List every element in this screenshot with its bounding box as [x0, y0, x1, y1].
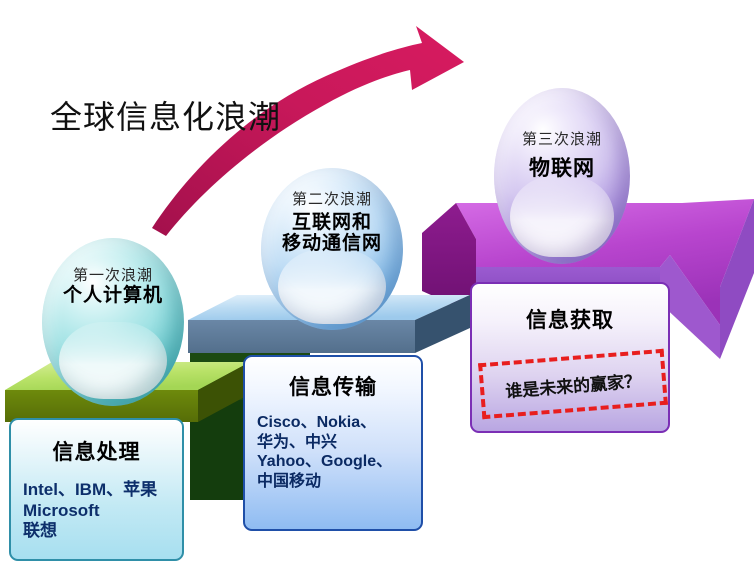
wave-1-sphere[interactable]: 第一次浪潮 个人计算机	[42, 238, 184, 406]
wave-3-box-heading: 信息获取	[484, 304, 656, 334]
wave-2-box-heading: 信息传输	[257, 371, 409, 401]
wave-1-box-heading: 信息处理	[23, 436, 170, 466]
wave-2-box-items: Cisco、Nokia、 华为、中兴 Yahoo、Google、 中国移动	[257, 413, 409, 491]
wave-3-info-box[interactable]: 信息获取 谁是未来的赢家？	[470, 282, 670, 433]
wave-2-sphere[interactable]: 第二次浪潮 互联网和 移动通信网	[261, 168, 403, 330]
sphere-gloss-icon	[59, 322, 167, 399]
wave-1-info-box[interactable]: 信息处理 Intel、IBM、苹果 Microsoft 联想	[9, 418, 184, 561]
sphere-gloss-icon	[510, 176, 613, 257]
infographic-canvas: 全球信息化浪潮	[0, 0, 754, 565]
wave-2-info-box[interactable]: 信息传输 Cisco、Nokia、 华为、中兴 Yahoo、Google、 中国…	[243, 355, 423, 531]
wave-3-callout-box: 谁是未来的赢家？	[478, 349, 668, 419]
wave-1-box-items: Intel、IBM、苹果 Microsoft 联想	[23, 480, 170, 542]
wave-2-ordinal: 第二次浪潮	[292, 188, 372, 209]
wave-3-callout-text: 谁是未来的赢家？	[504, 366, 642, 402]
wave-1-name: 个人计算机	[63, 285, 163, 306]
wave-3-sphere[interactable]: 第三次浪潮 物联网	[494, 88, 630, 264]
page-title: 全球信息化浪潮	[50, 92, 281, 138]
wave-1-ordinal: 第一次浪潮	[73, 264, 153, 285]
wave-3-name: 物联网	[529, 157, 595, 181]
wave-2-name: 互联网和 移动通信网	[282, 212, 382, 255]
sphere-gloss-icon	[278, 249, 386, 324]
wave-3-ordinal: 第三次浪潮	[522, 128, 602, 149]
